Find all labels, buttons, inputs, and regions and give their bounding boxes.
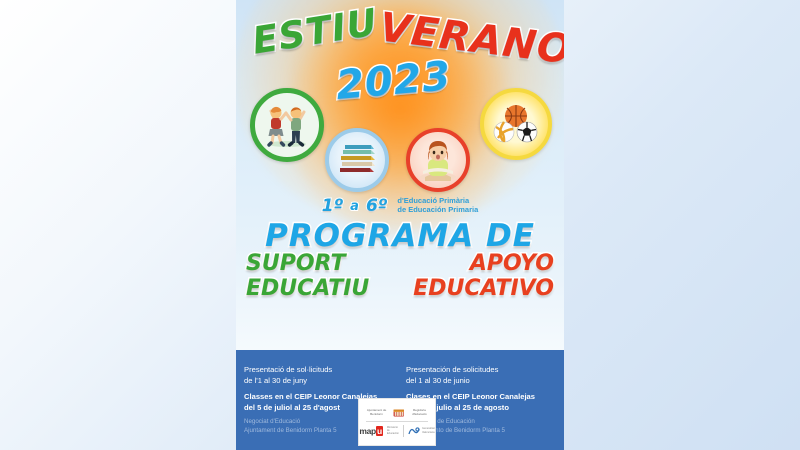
- mapu-subtitle-line2: de Educación: [387, 429, 399, 435]
- program-catalan-line2: EDUCATIU: [246, 277, 369, 302]
- generalitat-subtitle-line2: Valenciana: [422, 431, 435, 434]
- teacher-reading-icon: [406, 128, 470, 192]
- program-heading: PROGRAMA DE: [236, 218, 564, 254]
- logo-separator: [403, 425, 404, 437]
- ayuntamiento-name-left: Ajuntament de Benidorm: [363, 409, 390, 417]
- title-word-catalan: ESTIU: [249, 0, 380, 62]
- book-stack-icon: [325, 128, 389, 192]
- benidorm-crest-icon: [393, 408, 405, 418]
- spanish-application-line1: Presentación de solicitudes: [406, 364, 556, 375]
- screenshot-canvas: ESTIU VERANO 2023: [0, 0, 800, 450]
- catalan-application-line2: de l'1 al 30 de juny: [244, 375, 392, 386]
- program-spanish-line1: APOYO: [413, 252, 554, 277]
- generalitat-subtitle: Generalitat Valenciana: [422, 427, 435, 433]
- grade-to: 6º: [366, 196, 387, 216]
- generalitat-logo: Generalitat Valenciana: [408, 426, 435, 436]
- grade-subtitle: d'Educació Primària de Educación Primari…: [397, 197, 478, 215]
- grade-connector: a: [350, 199, 359, 214]
- program-subheadings: SUPORT EDUCATIU APOYO EDUCATIVO: [236, 252, 564, 301]
- program-spanish-line2: EDUCATIVO: [413, 277, 554, 302]
- ayuntamiento-name-right: Regidoria d'Educació: [408, 409, 431, 417]
- program-catalan: SUPORT EDUCATIU: [246, 252, 369, 301]
- grade-range-line: 1º a 6º d'Educació Primària de Educación…: [236, 196, 564, 216]
- logo-panel: Ajuntament de Benidorm Regidoria d'Educa…: [358, 398, 436, 446]
- mapu-subtitle: Ministerio de Educación: [387, 426, 399, 435]
- grade-from: 1º: [322, 196, 343, 216]
- program-catalan-line1: SUPORT: [246, 252, 369, 277]
- logo-divider: [366, 421, 428, 422]
- mapu-logo-text: map: [359, 426, 376, 436]
- program-spanish: APOYO EDUCATIVO: [413, 252, 554, 301]
- partner-logos: mapu Ministerio de Educación Generalitat…: [359, 425, 434, 437]
- jumping-children-icon: [250, 88, 324, 162]
- spanish-application-line2: del 1 al 30 de junio: [406, 375, 556, 386]
- title-year: 2023: [334, 53, 453, 109]
- catalan-application-line1: Presentació de sol·licituds: [244, 364, 392, 375]
- grade-subtitle-spanish: de Educación Primaria: [397, 206, 478, 215]
- ayuntamiento-logo: Ajuntament de Benidorm Regidoria d'Educa…: [363, 408, 431, 418]
- sport-balls-icon: [480, 88, 552, 160]
- summer-program-poster: ESTIU VERANO 2023: [236, 0, 564, 450]
- mapu-logo: mapu: [359, 426, 382, 436]
- generalitat-icon: [408, 426, 420, 436]
- mapu-logo-accent: u: [376, 426, 383, 436]
